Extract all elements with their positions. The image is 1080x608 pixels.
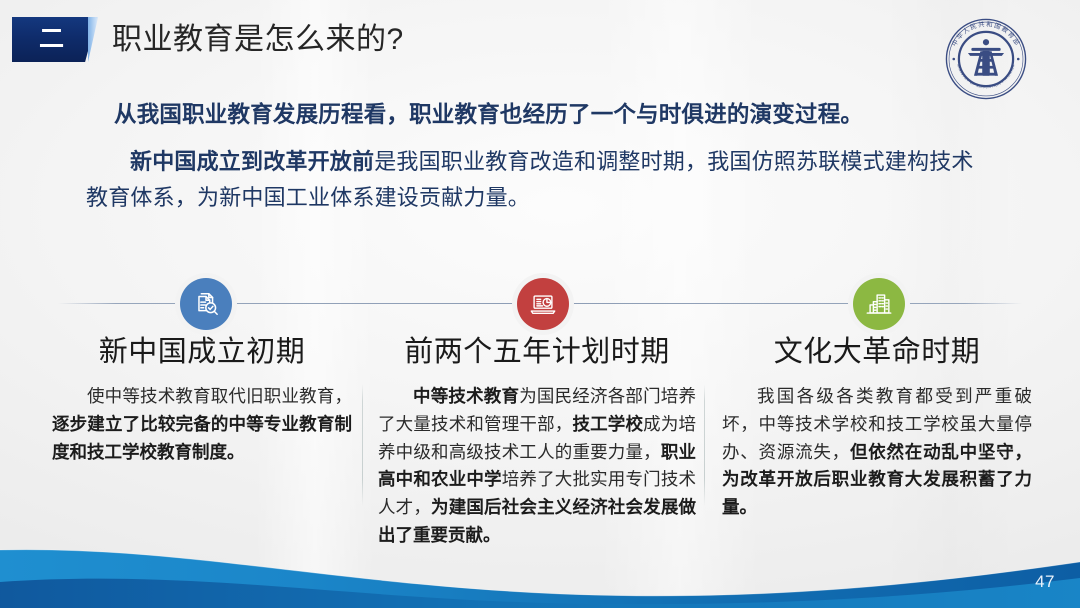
section-number-label: 二: [39, 27, 64, 52]
intro-body-paragraph: 新中国成立到改革开放前是我国职业教育改造和调整时期，我国仿照苏联模式建构技术教育…: [86, 144, 986, 215]
text-run: 使中等技术教育取代旧职业教育，: [87, 386, 352, 406]
ministry-of-education-emblem-icon: 中华人民共和国教育部 MINISTRY OF EDUCATION P.R.CHI…: [943, 16, 1029, 102]
timeline-column-1: 新中国成立初期 使中等技术教育取代旧职业教育，逐步建立了比较完备的中等专业教育制…: [52, 336, 352, 466]
city-buildings-icon: [853, 278, 905, 330]
background-sheen-band: [255, 0, 375, 608]
intro-text-block: 从我国职业教育发展历程看，职业教育也经历了一个与时俱进的演变过程。 新中国成立到…: [86, 98, 986, 215]
intro-body-emphasis: 新中国成立到改革开放前: [130, 149, 374, 174]
page-title: 职业教育是怎么来的?: [112, 14, 404, 58]
column-body: 中等技术教育为国民经济各部门培养了大量技术和管理干部，技工学校成为培养中级和高级…: [378, 383, 696, 549]
section-number-badge: 二: [12, 17, 97, 62]
emphasis-run: 技工学校: [572, 414, 643, 434]
document-check-search-icon: [180, 278, 232, 330]
emphasis-run: 中等技术教育: [413, 386, 519, 406]
column-body: 我国各级各类教育都受到严重破坏，中等技术学校和技工学校虽大量停办、资源流失，但依…: [722, 383, 1032, 521]
column-divider: [362, 384, 363, 506]
emphasis-run: 逐步建立了比较完备的中等专业教育制度和技工学校教育制度。: [52, 414, 352, 462]
column-heading: 文化大革命时期: [722, 336, 1032, 369]
column-body: 使中等技术教育取代旧职业教育，逐步建立了比较完备的中等专业教育制度和技工学校教育…: [52, 383, 352, 466]
timeline-column-3: 文化大革命时期 我国各级各类教育都受到严重破坏，中等技术学校和技工学校虽大量停办…: [722, 336, 1032, 522]
section-badge-accent: [88, 17, 102, 62]
column-heading: 新中国成立初期: [52, 336, 352, 369]
slide-title-bar: 二 职业教育是怎么来的?: [0, 14, 1080, 70]
page-number: 47: [1035, 572, 1055, 592]
column-heading: 前两个五年计划时期: [378, 336, 696, 369]
footer-wave-decoration: 47: [0, 538, 1080, 608]
column-divider: [704, 384, 705, 506]
timeline-column-2: 前两个五年计划时期 中等技术教育为国民经济各部门培养了大量技术和管理干部，技工学…: [378, 336, 696, 549]
slide-canvas: 二 职业教育是怎么来的? 中华人民共和国教育部 MINISTRY OF EDUC…: [0, 0, 1080, 608]
laptop-chart-icon: [517, 278, 569, 330]
intro-lead-paragraph: 从我国职业教育发展历程看，职业教育也经历了一个与时俱进的演变过程。: [86, 98, 986, 132]
